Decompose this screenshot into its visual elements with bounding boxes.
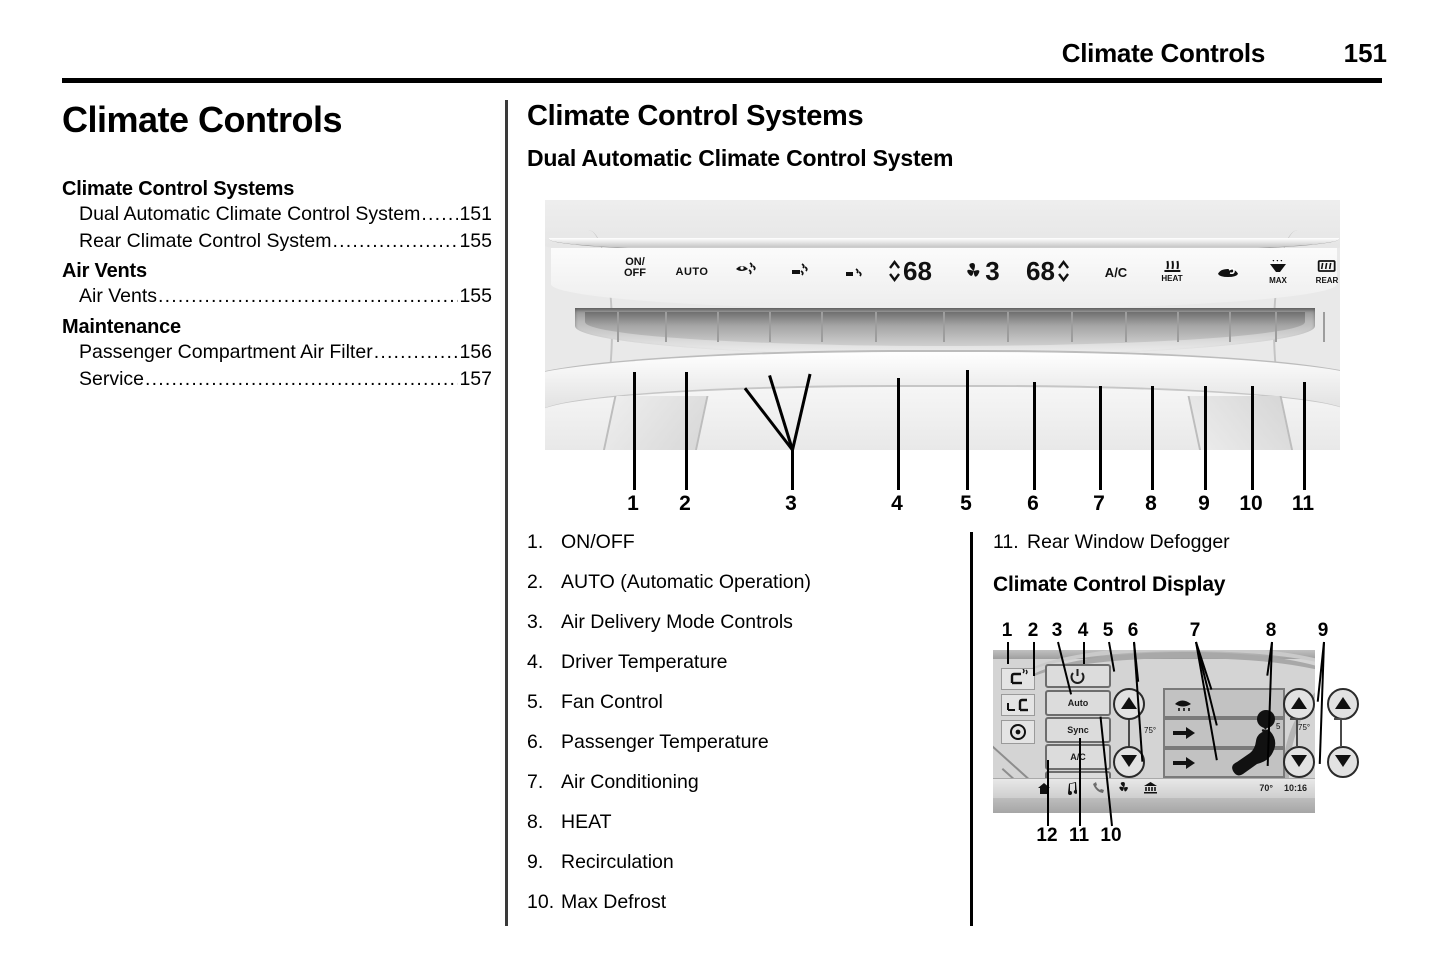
callout-number: 4 (891, 492, 903, 516)
list-item-label: Recirculation (561, 853, 947, 873)
display-callout-number: 6 (1128, 620, 1139, 642)
panel-label-on-off[interactable]: ON/OFF (624, 257, 646, 279)
callout-number: 6 (1027, 492, 1039, 516)
list-item: 10.Max Defrost (527, 893, 947, 913)
panel-label-fan[interactable]: 3 (964, 258, 999, 286)
climate-display-figure: 123456789 (993, 620, 1353, 865)
callout-number: 2 (679, 492, 691, 516)
button-separator (1125, 312, 1127, 342)
fan-tick (1290, 718, 1302, 720)
display-leader (1047, 760, 1049, 826)
button-separator (1177, 312, 1179, 342)
panel-icon-defrost-mode[interactable] (734, 260, 758, 283)
panel-legend-right: 11.Rear Window Defogger Climate Control … (993, 533, 1393, 607)
panel-icon-rear-defogger[interactable]: REAR (1316, 260, 1339, 285)
list-item: 4.Driver Temperature (527, 653, 947, 673)
passenger-temp-down-button[interactable] (1327, 746, 1359, 778)
status-temperature: 70° (1259, 783, 1273, 793)
toc-entry[interactable]: Passenger Compartment Air Filter .......… (62, 339, 492, 366)
passenger-temp-up-button[interactable] (1327, 688, 1359, 720)
seat-back-icon-box[interactable] (1001, 694, 1035, 716)
toc-page-number: 157 (459, 366, 492, 393)
column-divider-left (505, 100, 508, 926)
list-item: 7.Air Conditioning (527, 773, 947, 793)
toc-page-number: 155 (459, 228, 492, 255)
passenger-temp-value: 75° (1298, 723, 1310, 732)
callout-number: 8 (1145, 492, 1157, 516)
auto-button-label: Auto (1047, 698, 1109, 708)
toc-page-number: 155 (459, 283, 492, 310)
display-callout-number: 11 (1069, 825, 1089, 847)
toc-leader-dots: ........................................… (374, 339, 459, 366)
list-item-label: ON/OFF (561, 533, 947, 553)
panel-label-passenger-temp[interactable]: 68 (1026, 258, 1070, 285)
toc-entry-label: Passenger Compartment Air Filter (79, 339, 373, 366)
list-item-number: 10. (527, 893, 561, 913)
page-header: Climate Controls 151 (0, 38, 1445, 74)
panel-label-auto[interactable]: AUTO (676, 262, 709, 280)
callout-leader (897, 378, 900, 490)
toc-entry[interactable]: Rear Climate Control System ............… (62, 228, 492, 255)
toc-page-number: 151 (459, 201, 492, 228)
list-item-label: HEAT (561, 813, 947, 833)
toc-group: MaintenancePassenger Compartment Air Fil… (62, 316, 492, 393)
display-callout-number: 9 (1318, 620, 1329, 642)
button-separator (1007, 312, 1009, 342)
chevron-up-icon-pass (1335, 697, 1351, 709)
list-item-number: 3. (527, 613, 561, 633)
callout-leader-lines (545, 370, 1340, 490)
chevron-down-icon-fan (1291, 755, 1307, 767)
display-callouts-bottom: 121110 (993, 825, 1353, 849)
toc-column: Climate Controls Climate Control Systems… (62, 100, 492, 395)
page-title: Climate Controls (62, 100, 492, 140)
callout-leader (791, 450, 794, 490)
button-separator (1275, 312, 1277, 342)
display-callouts-top: 123456789 (993, 620, 1353, 644)
chevron-down-icon (1121, 755, 1137, 767)
toc-entry-label: Dual Automatic Climate Control System (79, 201, 420, 228)
callout-leader (1099, 386, 1102, 490)
section-heading: Climate Control Systems (527, 100, 1407, 133)
display-callout-number: 10 (1100, 825, 1121, 847)
toc-entry-label: Rear Climate Control System (79, 228, 332, 255)
panel-icon-face-mode[interactable] (790, 262, 812, 285)
list-item: 6.Passenger Temperature (527, 733, 947, 753)
callout-number: 11 (1292, 492, 1314, 516)
ac-button[interactable]: A/C (1045, 744, 1111, 770)
toc-entry[interactable]: Air Vents ..............................… (62, 283, 492, 310)
callout-leader (1204, 386, 1207, 490)
callout-leader (685, 372, 688, 490)
toc-leader-dots: ........................................… (421, 201, 458, 228)
passenger-temp-slider[interactable] (1340, 718, 1342, 746)
defrost-icon (1170, 694, 1200, 712)
callout-leader (633, 372, 636, 490)
toc-group: Climate Control SystemsDual Automatic Cl… (62, 178, 492, 255)
button-separator (821, 312, 823, 342)
content-column: Climate Control Systems Dual Automatic C… (527, 100, 1407, 186)
callout-numbers: 1234567891011 (545, 492, 1340, 520)
callout-leader (1151, 386, 1154, 490)
list-item-label: Air Conditioning (561, 773, 947, 793)
callout-leader (768, 375, 794, 450)
fan-up-button[interactable] (1283, 688, 1315, 720)
toc-heading: Climate Control Systems (62, 178, 492, 201)
display-section-heading: Climate Control Display (993, 573, 1393, 597)
list-item: 1.ON/OFF (527, 533, 947, 553)
callout-number: 5 (960, 492, 972, 516)
header-page-number: 151 (1344, 38, 1387, 69)
toc-heading: Maintenance (62, 316, 492, 339)
heated-seat-icon-box[interactable] (1001, 668, 1035, 690)
toc-entry[interactable]: Dual Automatic Climate Control System ..… (62, 201, 492, 228)
display-callout-number: 7 (1190, 620, 1201, 642)
list-item: 2.AUTO (Automatic Operation) (527, 573, 947, 593)
callout-leader (791, 374, 811, 451)
callout-number: 10 (1239, 492, 1262, 516)
recirculation-dot-icon-box[interactable] (1001, 720, 1035, 744)
display-callout-number: 2 (1028, 620, 1039, 642)
status-time: 10:16 (1284, 783, 1307, 793)
panel-label-heat[interactable]: HEAT (1161, 260, 1182, 283)
list-item-label: Fan Control (561, 693, 947, 713)
toc-entry-label: Service (79, 366, 144, 393)
toc-entry[interactable]: Service ................................… (62, 366, 492, 393)
passenger-temp-tick (1334, 718, 1346, 720)
display-callout-number: 3 (1052, 620, 1063, 642)
list-item-number: 2. (527, 573, 561, 593)
list-item-number: 6. (527, 733, 561, 753)
toc-leader-dots: ........................................… (333, 228, 459, 255)
callout-number: 3 (785, 492, 797, 516)
display-callout-number: 12 (1036, 825, 1057, 847)
chevron-up-icon-fan (1291, 697, 1307, 709)
panel-label-driver-temp[interactable]: 68 (888, 258, 932, 288)
display-callout-number: 4 (1078, 620, 1089, 642)
panel-legend-left: 1.ON/OFF2.AUTO (Automatic Operation)3.Ai… (527, 533, 947, 933)
display-callout-number: 1 (1002, 620, 1013, 642)
display-callout-number: 8 (1266, 620, 1277, 642)
callout-number: 7 (1093, 492, 1105, 516)
list-item-number: 8. (527, 813, 561, 833)
display-leader (1007, 642, 1009, 664)
display-leader (1083, 642, 1085, 664)
header-chapter-title: Climate Controls (1062, 38, 1265, 69)
button-separator (769, 312, 771, 342)
callout-leader (744, 387, 794, 451)
bank-icon[interactable] (1143, 781, 1158, 794)
toc-entry-label: Air Vents (79, 283, 157, 310)
fan-speed-value: 5 (1276, 722, 1280, 731)
button-separator (943, 312, 945, 342)
list-item: 5.Fan Control (527, 693, 947, 713)
heated-seat-icon (1002, 669, 1034, 689)
button-separator (875, 312, 877, 342)
column-divider-middle (970, 532, 973, 926)
button-separator (717, 312, 719, 342)
toc-leader-dots: ........................................… (158, 283, 458, 310)
list-item-number: 1. (527, 533, 561, 553)
list-item-label: Passenger Temperature (561, 733, 947, 753)
toc-group: Air VentsAir Vents .....................… (62, 260, 492, 310)
callout-leader (1251, 386, 1254, 490)
display-bottom-bar: 70° 10:16 (993, 778, 1315, 799)
seat-back-icon (1002, 695, 1034, 715)
list-item-number: 4. (527, 653, 561, 673)
phone-icon[interactable] (1091, 782, 1105, 795)
panel-icon-recirculation[interactable] (1215, 264, 1241, 285)
toc-page-number: 156 (459, 339, 492, 366)
toc-heading: Air Vents (62, 260, 492, 283)
display-bottom-trim (993, 798, 1315, 813)
chevron-down-icon-pass (1335, 755, 1351, 767)
list-item-number: 11. (993, 533, 1027, 553)
power-button[interactable] (1045, 664, 1111, 688)
power-icon (1047, 666, 1109, 686)
ac-button-label: A/C (1047, 752, 1109, 762)
list-item: 8.HEAT (527, 813, 947, 833)
list-item-number: 9. (527, 853, 561, 873)
display-leader (1079, 738, 1081, 826)
display-leader (1319, 642, 1325, 764)
recirculation-dot-icon (1002, 721, 1034, 743)
list-item-label: AUTO (Automatic Operation) (561, 573, 947, 593)
display-callout-number: 5 (1103, 620, 1114, 642)
driver-temp-value: 75° (1144, 726, 1156, 735)
list-item-number: 5. (527, 693, 561, 713)
table-of-contents: Climate Control SystemsDual Automatic Cl… (62, 178, 492, 394)
list-item-label: Rear Window Defogger (1027, 533, 1393, 553)
arrow-right-icon-2 (1170, 754, 1200, 772)
callout-leader (1033, 382, 1036, 490)
list-item: 9.Recirculation (527, 853, 947, 873)
panel-icon-max-defrost[interactable]: MAX (1267, 260, 1289, 285)
fan-down-button[interactable] (1283, 746, 1315, 778)
callout-number: 9 (1198, 492, 1210, 516)
fan-icon (1259, 724, 1273, 736)
climate-icon[interactable] (1117, 781, 1131, 794)
list-item: 3.Air Delivery Mode Controls (527, 613, 947, 633)
panel-label-ac[interactable]: A/C (1105, 264, 1127, 282)
subsection-heading: Dual Automatic Climate Control System (527, 145, 1407, 172)
music-icon[interactable] (1063, 782, 1077, 795)
callout-number: 1 (627, 492, 639, 516)
callout-leader (966, 370, 969, 490)
panel-icon-floor-mode[interactable] (844, 266, 866, 287)
list-item-label: Max Defrost (561, 893, 947, 913)
toc-leader-dots: ........................................… (145, 366, 458, 393)
callout-leader (1303, 382, 1306, 490)
button-separator (1229, 312, 1231, 342)
auto-button[interactable]: Auto (1045, 690, 1111, 716)
list-item-label: Driver Temperature (561, 653, 947, 673)
manual-page: Climate Controls 151 Climate Controls Cl… (0, 0, 1445, 960)
button-separator (665, 312, 667, 342)
button-separator (617, 312, 619, 342)
list-item-label: Air Delivery Mode Controls (561, 613, 947, 633)
list-item-number: 7. (527, 773, 561, 793)
button-separator (1071, 312, 1073, 342)
seated-occupant-icon (1221, 708, 1285, 780)
chevron-up-icon (1121, 697, 1137, 709)
arrow-right-icon (1170, 724, 1200, 742)
button-separator (1323, 312, 1325, 342)
header-rule (62, 78, 1382, 83)
display-leader (1033, 642, 1035, 676)
list-item: 11.Rear Window Defogger (993, 533, 1393, 553)
